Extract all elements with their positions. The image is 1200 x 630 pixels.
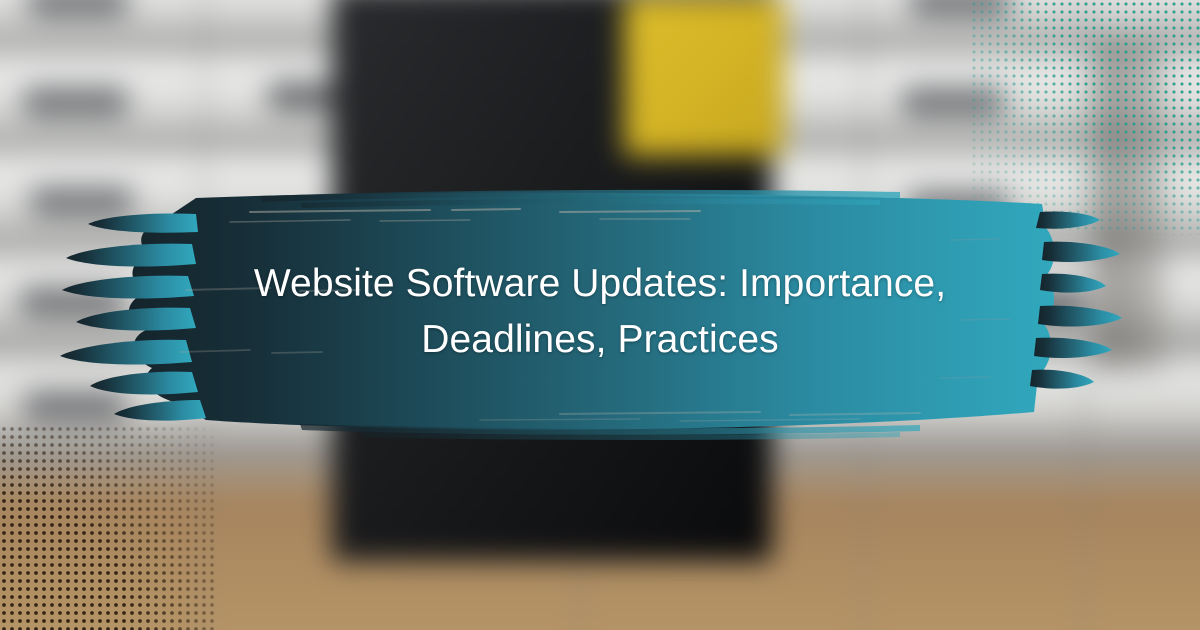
featured-image-canvas: Website Software Updates: Importance, De… <box>0 0 1200 630</box>
page-title: Website Software Updates: Importance, De… <box>200 256 1000 368</box>
title-block: Website Software Updates: Importance, De… <box>200 256 1000 368</box>
